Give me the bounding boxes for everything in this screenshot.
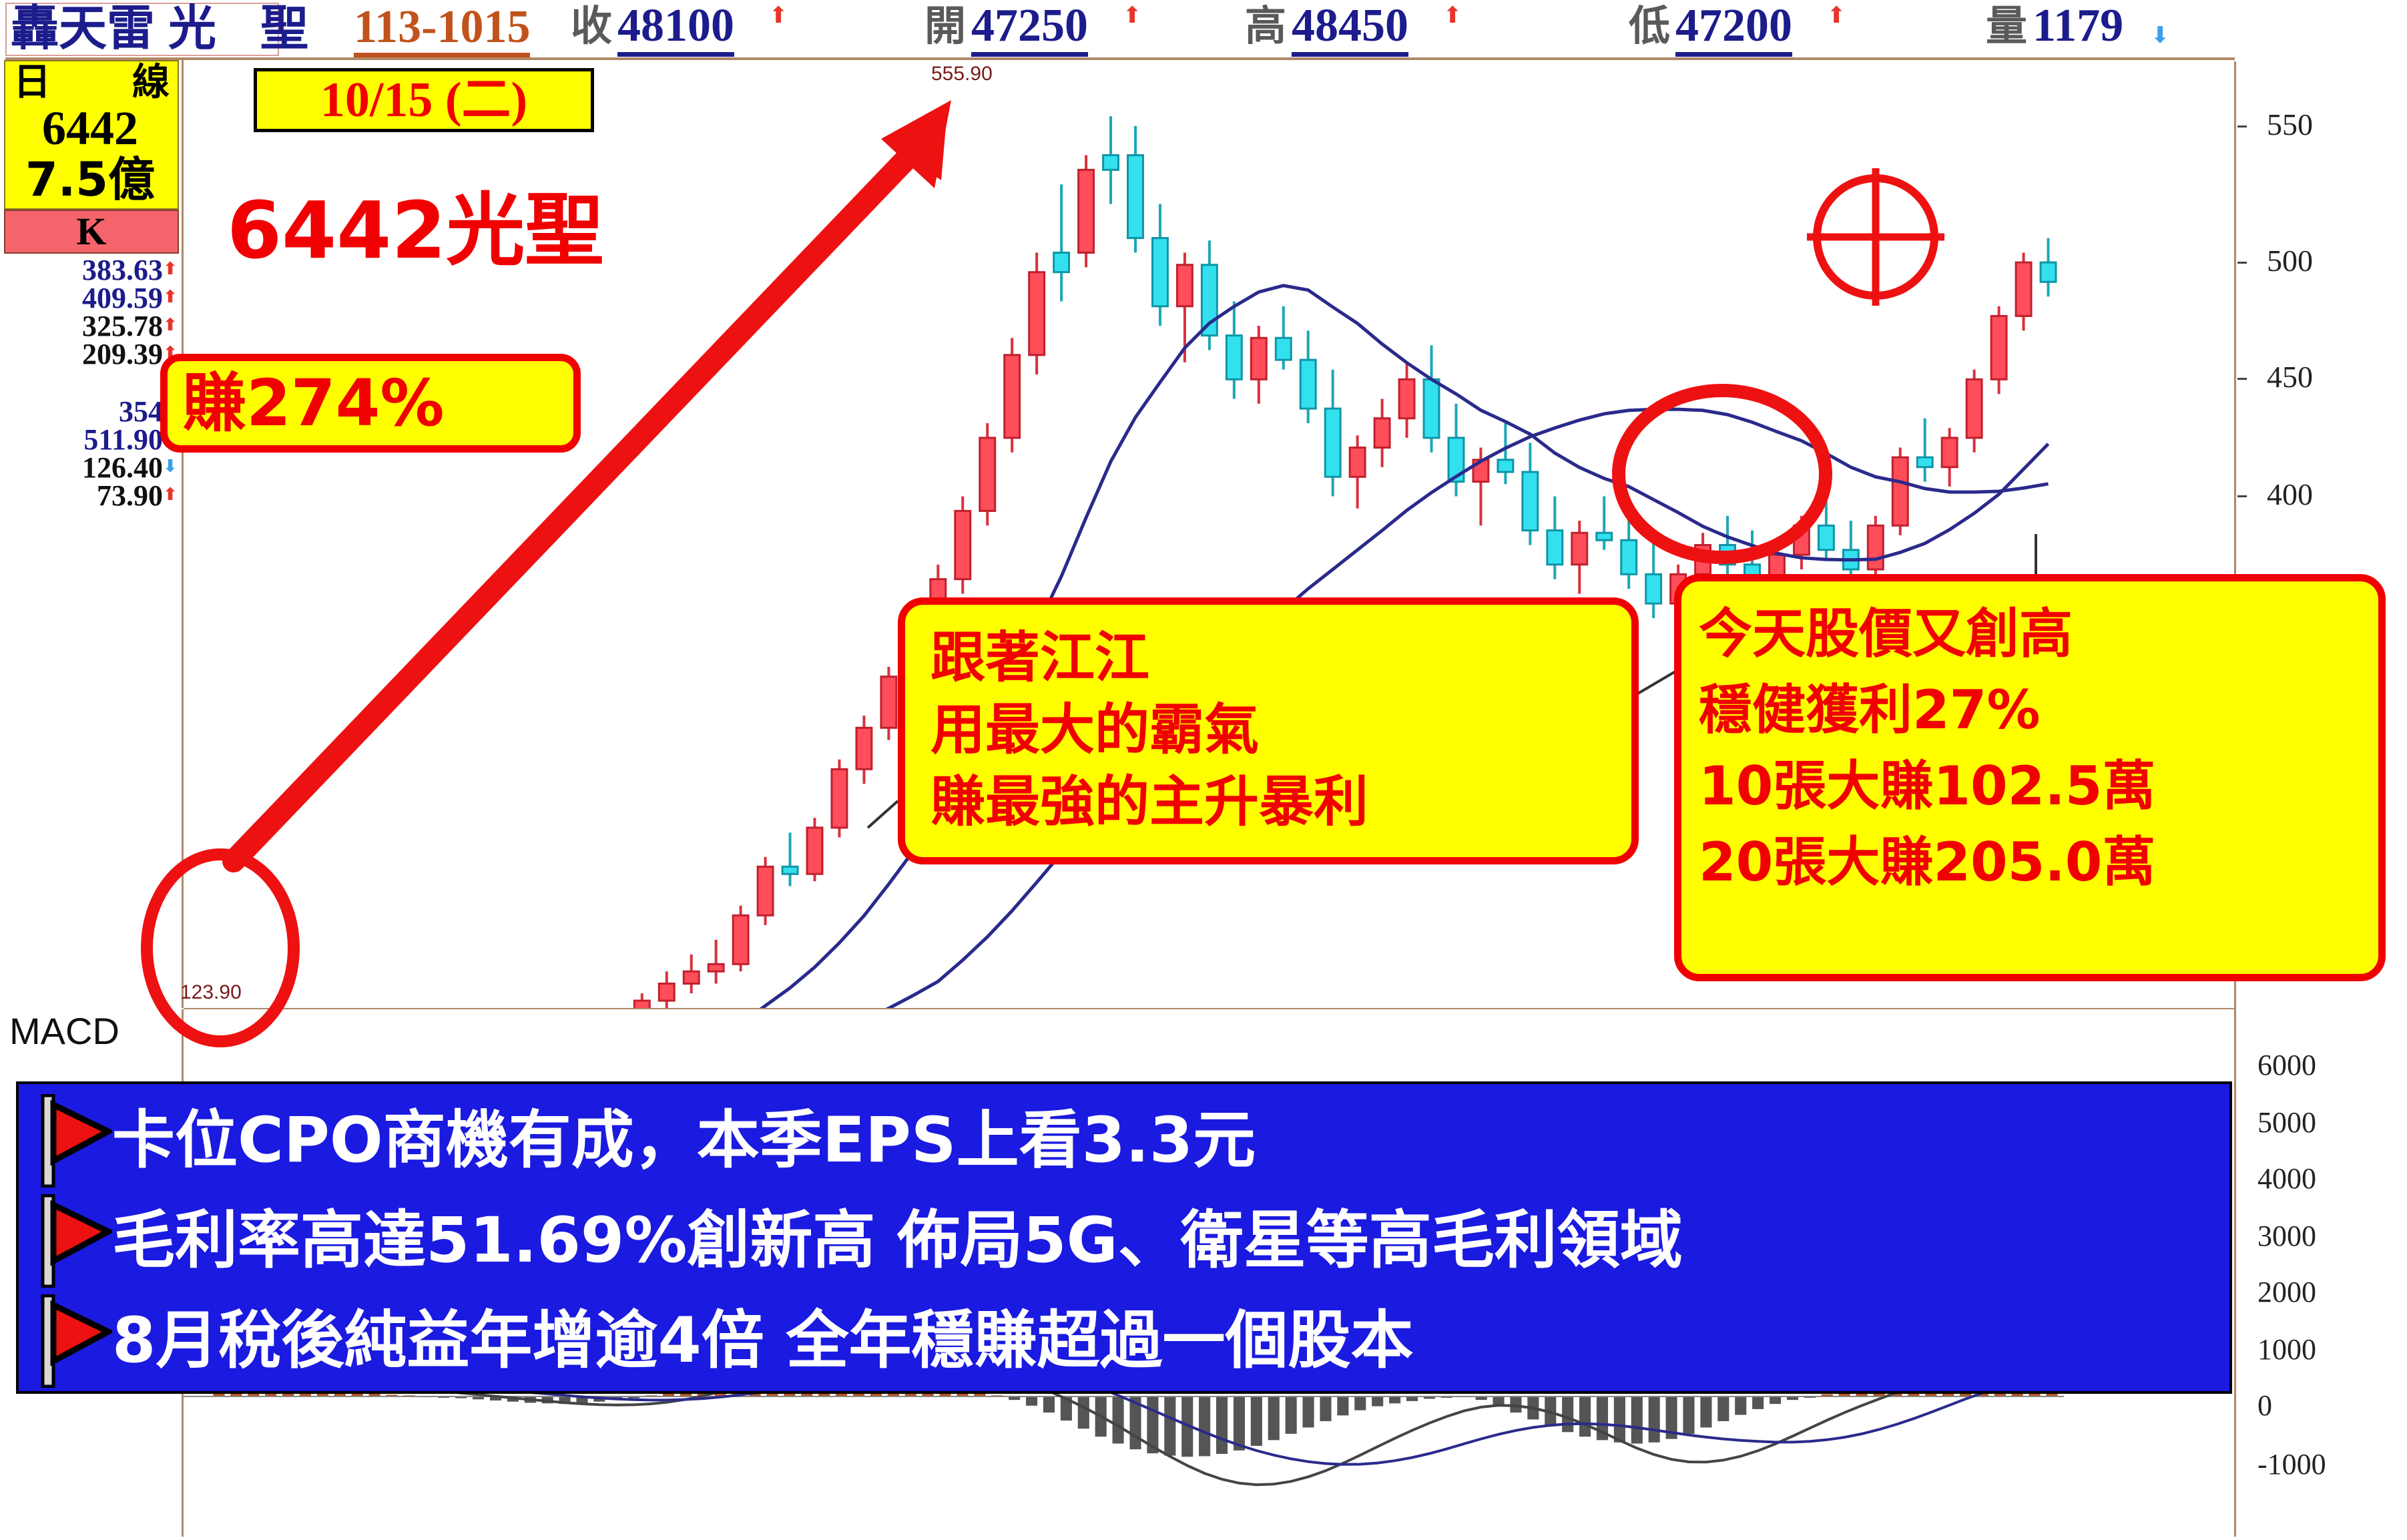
left-info-panel: 日 線 6442 7.5億 K 383.63 ⬆ 409.59 ⬆ 325.78… (4, 60, 183, 641)
arrow-up-icon: ⬆ (163, 481, 178, 509)
red-flag-icon (33, 1194, 112, 1288)
macd-right-border (2234, 1009, 2236, 1537)
axis-label: 2000 (2257, 1278, 2316, 1307)
high-label: 高 (1245, 0, 1286, 52)
header-divider (5, 57, 2235, 60)
open-label: 開 (924, 0, 966, 52)
spacer (4, 368, 179, 398)
red-flag-icon (33, 1294, 112, 1388)
volume-arrow-down-icon: ⬇ (2151, 24, 2170, 47)
logo-label: 轟天雷 (11, 1, 155, 55)
gain-badge: 賺274% (160, 354, 581, 453)
mid-callout-box: 跟著江江 用最大的霸氣 賺最強的主升暴利 (898, 597, 1639, 864)
list-item: 409.59 ⬆ (4, 284, 163, 312)
arrow-down-icon: ⬇ (163, 453, 178, 481)
axis-tick (2237, 262, 2247, 264)
axis-label: 450 (2267, 362, 2313, 393)
right-callout-line-2: 穩健獲利27% (1699, 672, 2374, 748)
axis-label: 4000 (2257, 1164, 2316, 1194)
right-callout-line-4: 20張大賺205.0萬 (1699, 824, 2374, 901)
chart-type-badge[interactable]: K (4, 210, 179, 254)
high-value: 48450 (1292, 0, 1408, 57)
axis-tick (2237, 495, 2247, 497)
volume-value: 1179 (2033, 0, 2123, 52)
axis-label: 500 (2267, 246, 2313, 276)
page-title: 6442光聖 (227, 187, 734, 274)
open-value: 47250 (971, 0, 1088, 57)
axis-tick (2237, 125, 2247, 127)
axis-label: -1000 (2257, 1450, 2326, 1479)
period-row: 日 線 (8, 61, 175, 104)
low-label: 低 (1629, 0, 1670, 52)
axis-label: 0 (2257, 1391, 2272, 1421)
list-item: 8月稅後純益年增逾4倍 全年穩賺超過一個股本 (19, 1291, 2229, 1391)
low-value: 47200 (1675, 0, 1792, 57)
axis-label: 6000 (2257, 1051, 2316, 1080)
news-text: 毛利率高達51.69%創新高 佈局5G、衛星等高毛利領域 (112, 1204, 1683, 1278)
turnover-value: 7.5億 (4, 152, 176, 207)
date-badge: 10/15 (二) (254, 68, 594, 132)
news-text: 8月稅後純益年增逾4倍 全年穩賺超過一個股本 (112, 1304, 1414, 1378)
list-item: 325.78 ⬆ (4, 312, 163, 340)
axis-label: 1000 (2257, 1335, 2316, 1364)
indicator-value-list: 383.63 ⬆ 409.59 ⬆ 325.78 ⬆ 209.39 ⬆ 354 … (4, 256, 179, 510)
right-callout-line-1: 今天股價又創高 (1699, 596, 2374, 672)
stock-code-value: 6442 (4, 101, 176, 155)
trough-price-label: 123.90 (180, 983, 242, 1003)
axis-tick (2237, 378, 2247, 380)
axis-label: 5000 (2257, 1108, 2316, 1137)
close-value: 48100 (617, 0, 734, 57)
news-text: 卡位CPO商機有成，本季EPS上看3.3元 (112, 1104, 1256, 1178)
list-item: 354 ⬆ (4, 398, 163, 426)
right-callout-line-3: 10張大賺102.5萬 (1699, 748, 2374, 824)
mid-callout-line-3: 賺最強的主升暴利 (930, 766, 1625, 838)
trade-date: 113-1015 (354, 1, 530, 53)
list-item: 卡位CPO商機有成，本季EPS上看3.3元 (19, 1091, 2229, 1191)
mid-callout-line-1: 跟著江江 (930, 622, 1625, 694)
stock-name-char2: 聖 (260, 1, 308, 55)
period-label-right: 線 (132, 61, 170, 104)
indicator-value: 73.90 (97, 479, 163, 512)
list-item: 209.39 ⬆ (4, 340, 163, 368)
stock-name-char1: 光 (168, 1, 216, 55)
right-callout-box: 今天股價又創高 穩健獲利27% 10張大賺102.5萬 20張大賺205.0萬 (1674, 574, 2386, 981)
list-item: 毛利率高達51.69%創新高 佈局5G、衛星等高毛利領域 (19, 1191, 2229, 1291)
volume-label: 量 (1986, 0, 2027, 52)
axis-label: 3000 (2257, 1222, 2316, 1251)
peak-price-label: 555.90 (931, 64, 993, 84)
axis-label: 400 (2267, 479, 2313, 510)
macd-axis: 6000 5000 4000 3000 2000 1000 0 -1000 (2237, 1009, 2404, 1537)
open-arrow-up-icon: ⬆ (1123, 4, 1142, 27)
arrow-up-icon: ⬆ (163, 311, 178, 339)
list-item: 511.90 ⬆ (4, 426, 163, 454)
close-label: 收 (571, 0, 612, 52)
list-item: 126.40 ⬇ (4, 454, 163, 482)
arrow-up-icon: ⬆ (163, 283, 178, 311)
list-item: 73.90 ⬆ (4, 482, 163, 510)
indicator-value: 209.39 (82, 338, 163, 370)
close-arrow-up-icon: ⬆ (769, 4, 788, 27)
axis-label: 550 (2267, 109, 2313, 140)
period-label-left: 日 (13, 61, 51, 104)
low-arrow-up-icon: ⬆ (1827, 4, 1846, 27)
high-arrow-up-icon: ⬆ (1443, 4, 1462, 27)
arrow-up-icon: ⬆ (163, 255, 178, 283)
header-bar: 轟天雷 光 聖 113-1015 收 48100 ⬆ 開 47250 ⬆ 高 4… (0, 0, 2407, 59)
list-item: 383.63 ⬆ (4, 256, 163, 284)
news-panel: 卡位CPO商機有成，本季EPS上看3.3元 毛利率高達51.69%創新高 佈局5… (16, 1081, 2232, 1394)
red-flag-icon (33, 1094, 112, 1188)
macd-title: MACD (9, 1012, 210, 1052)
mid-callout-line-2: 用最大的霸氣 (930, 694, 1625, 766)
